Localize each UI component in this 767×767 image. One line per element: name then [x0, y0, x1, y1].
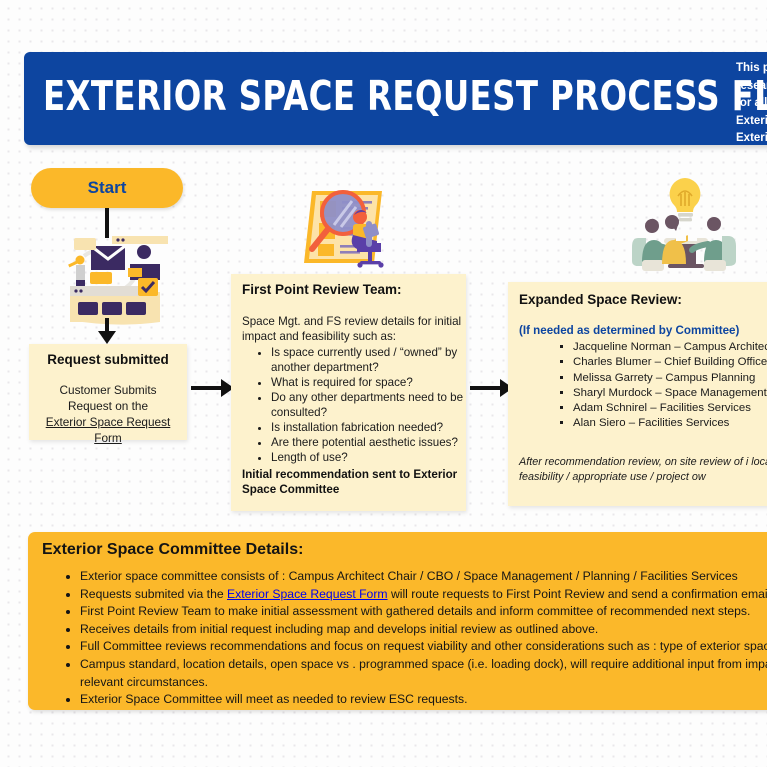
request-submitted-title: Request submitted [29, 352, 187, 367]
list-item: Sharyl Murdock – Space Management [573, 386, 767, 401]
list-item: Exterior Space Committee will meet as ne… [80, 691, 767, 709]
list-item: Requests submited via the Exterior Space… [80, 586, 767, 604]
detail-text-before-link: Requests submited via the [80, 587, 227, 601]
expanded-space-review-note: After recommendation review, on site rev… [519, 455, 767, 485]
first-point-review-footer: Initial recommendation sent to Exterior … [242, 467, 462, 497]
list-item: What is required for space? [271, 375, 483, 390]
committee-details-panel: Exterior Space Committee Details: Exteri… [28, 532, 767, 710]
connector-first-point-to-expanded [470, 386, 502, 390]
detail-text-after-link: will route requests to First Point Revie… [388, 587, 767, 601]
list-item: Adam Schnirel – Facilities Services [573, 401, 767, 416]
header-note-line-4: Exterior S [736, 113, 767, 131]
header-note: This proc research for all ext Exterior … [736, 60, 767, 145]
list-item: Campus standard, location details, open … [80, 656, 767, 691]
start-label: Start [31, 168, 183, 208]
header-note-line-3: for all ext [736, 95, 767, 113]
expanded-space-review-subtitle: (If needed as determined by Committee) [519, 324, 767, 337]
first-point-review-box: First Point Review Team: Space Mgt. and … [231, 274, 466, 511]
list-item: Do any other departments need to be cons… [271, 390, 483, 420]
expanded-space-review-members: Jacqueline Norman – Campus Architect Cha… [557, 340, 767, 432]
list-item: Exterior space committee consists of : C… [80, 568, 767, 586]
list-item: Is space currently used / “owned” by ano… [271, 345, 483, 375]
document-review-magnifier-illustration [298, 187, 398, 269]
list-item: Are there potential aesthetic issues? [271, 435, 483, 450]
exterior-space-request-form-link-details[interactable]: Exterior Space Request Form [227, 587, 388, 601]
list-item: Jacqueline Norman – Campus Architect [573, 340, 767, 355]
connector-request-to-first-point [191, 386, 223, 390]
first-point-review-title: First Point Review Team: [242, 282, 457, 297]
request-submitted-body: Customer Submits Request on the Exterior… [32, 382, 184, 446]
list-item: First Point Review Team to make initial … [80, 603, 767, 621]
arrowhead-down-request [98, 331, 116, 344]
header-note-line-1: This proc [736, 60, 767, 78]
process-flow-diagram: EXTERIOR SPACE REQUEST PROCESS FLOW This… [0, 0, 767, 767]
first-point-review-list: Is space currently used / “owned” by ano… [255, 345, 483, 465]
list-item: Full Committee reviews recommendations a… [80, 638, 767, 656]
submit-request-illustration [56, 216, 168, 326]
expanded-space-review-box: Expanded Space Review: (If needed as det… [508, 282, 767, 506]
start-node[interactable]: Start [31, 168, 183, 208]
header-note-line-5: Exterior S [736, 130, 767, 145]
list-item: Is installation fabrication needed? [271, 420, 483, 435]
expanded-space-review-title: Expanded Space Review: [519, 292, 767, 307]
request-submitted-line-2: Request on the [32, 398, 184, 414]
header-banner: EXTERIOR SPACE REQUEST PROCESS FLOW This… [24, 52, 767, 145]
first-point-review-intro: Space Mgt. and FS review details for ini… [242, 314, 462, 344]
list-item: Receives details from initial request in… [80, 621, 767, 639]
list-item: Charles Blumer – Chief Building Officer … [573, 355, 767, 370]
header-note-line-2: research [736, 78, 767, 96]
page-title: EXTERIOR SPACE REQUEST PROCESS FLOW [43, 71, 619, 121]
list-item: Length of use? [271, 450, 483, 465]
list-item: Melissa Garrety – Campus Planning [573, 371, 767, 386]
list-item: Alan Siero – Facilities Services [573, 416, 767, 431]
exterior-space-request-form-link[interactable]: Exterior Space Request Form [46, 415, 171, 445]
committee-meeting-lightbulb-illustration [628, 176, 742, 274]
request-submitted-line-1: Customer Submits [32, 382, 184, 398]
request-submitted-box: Request submitted Customer Submits Reque… [29, 344, 187, 440]
committee-details-title: Exterior Space Committee Details: [42, 541, 303, 559]
committee-details-list: Exterior space committee consists of : C… [64, 568, 767, 709]
